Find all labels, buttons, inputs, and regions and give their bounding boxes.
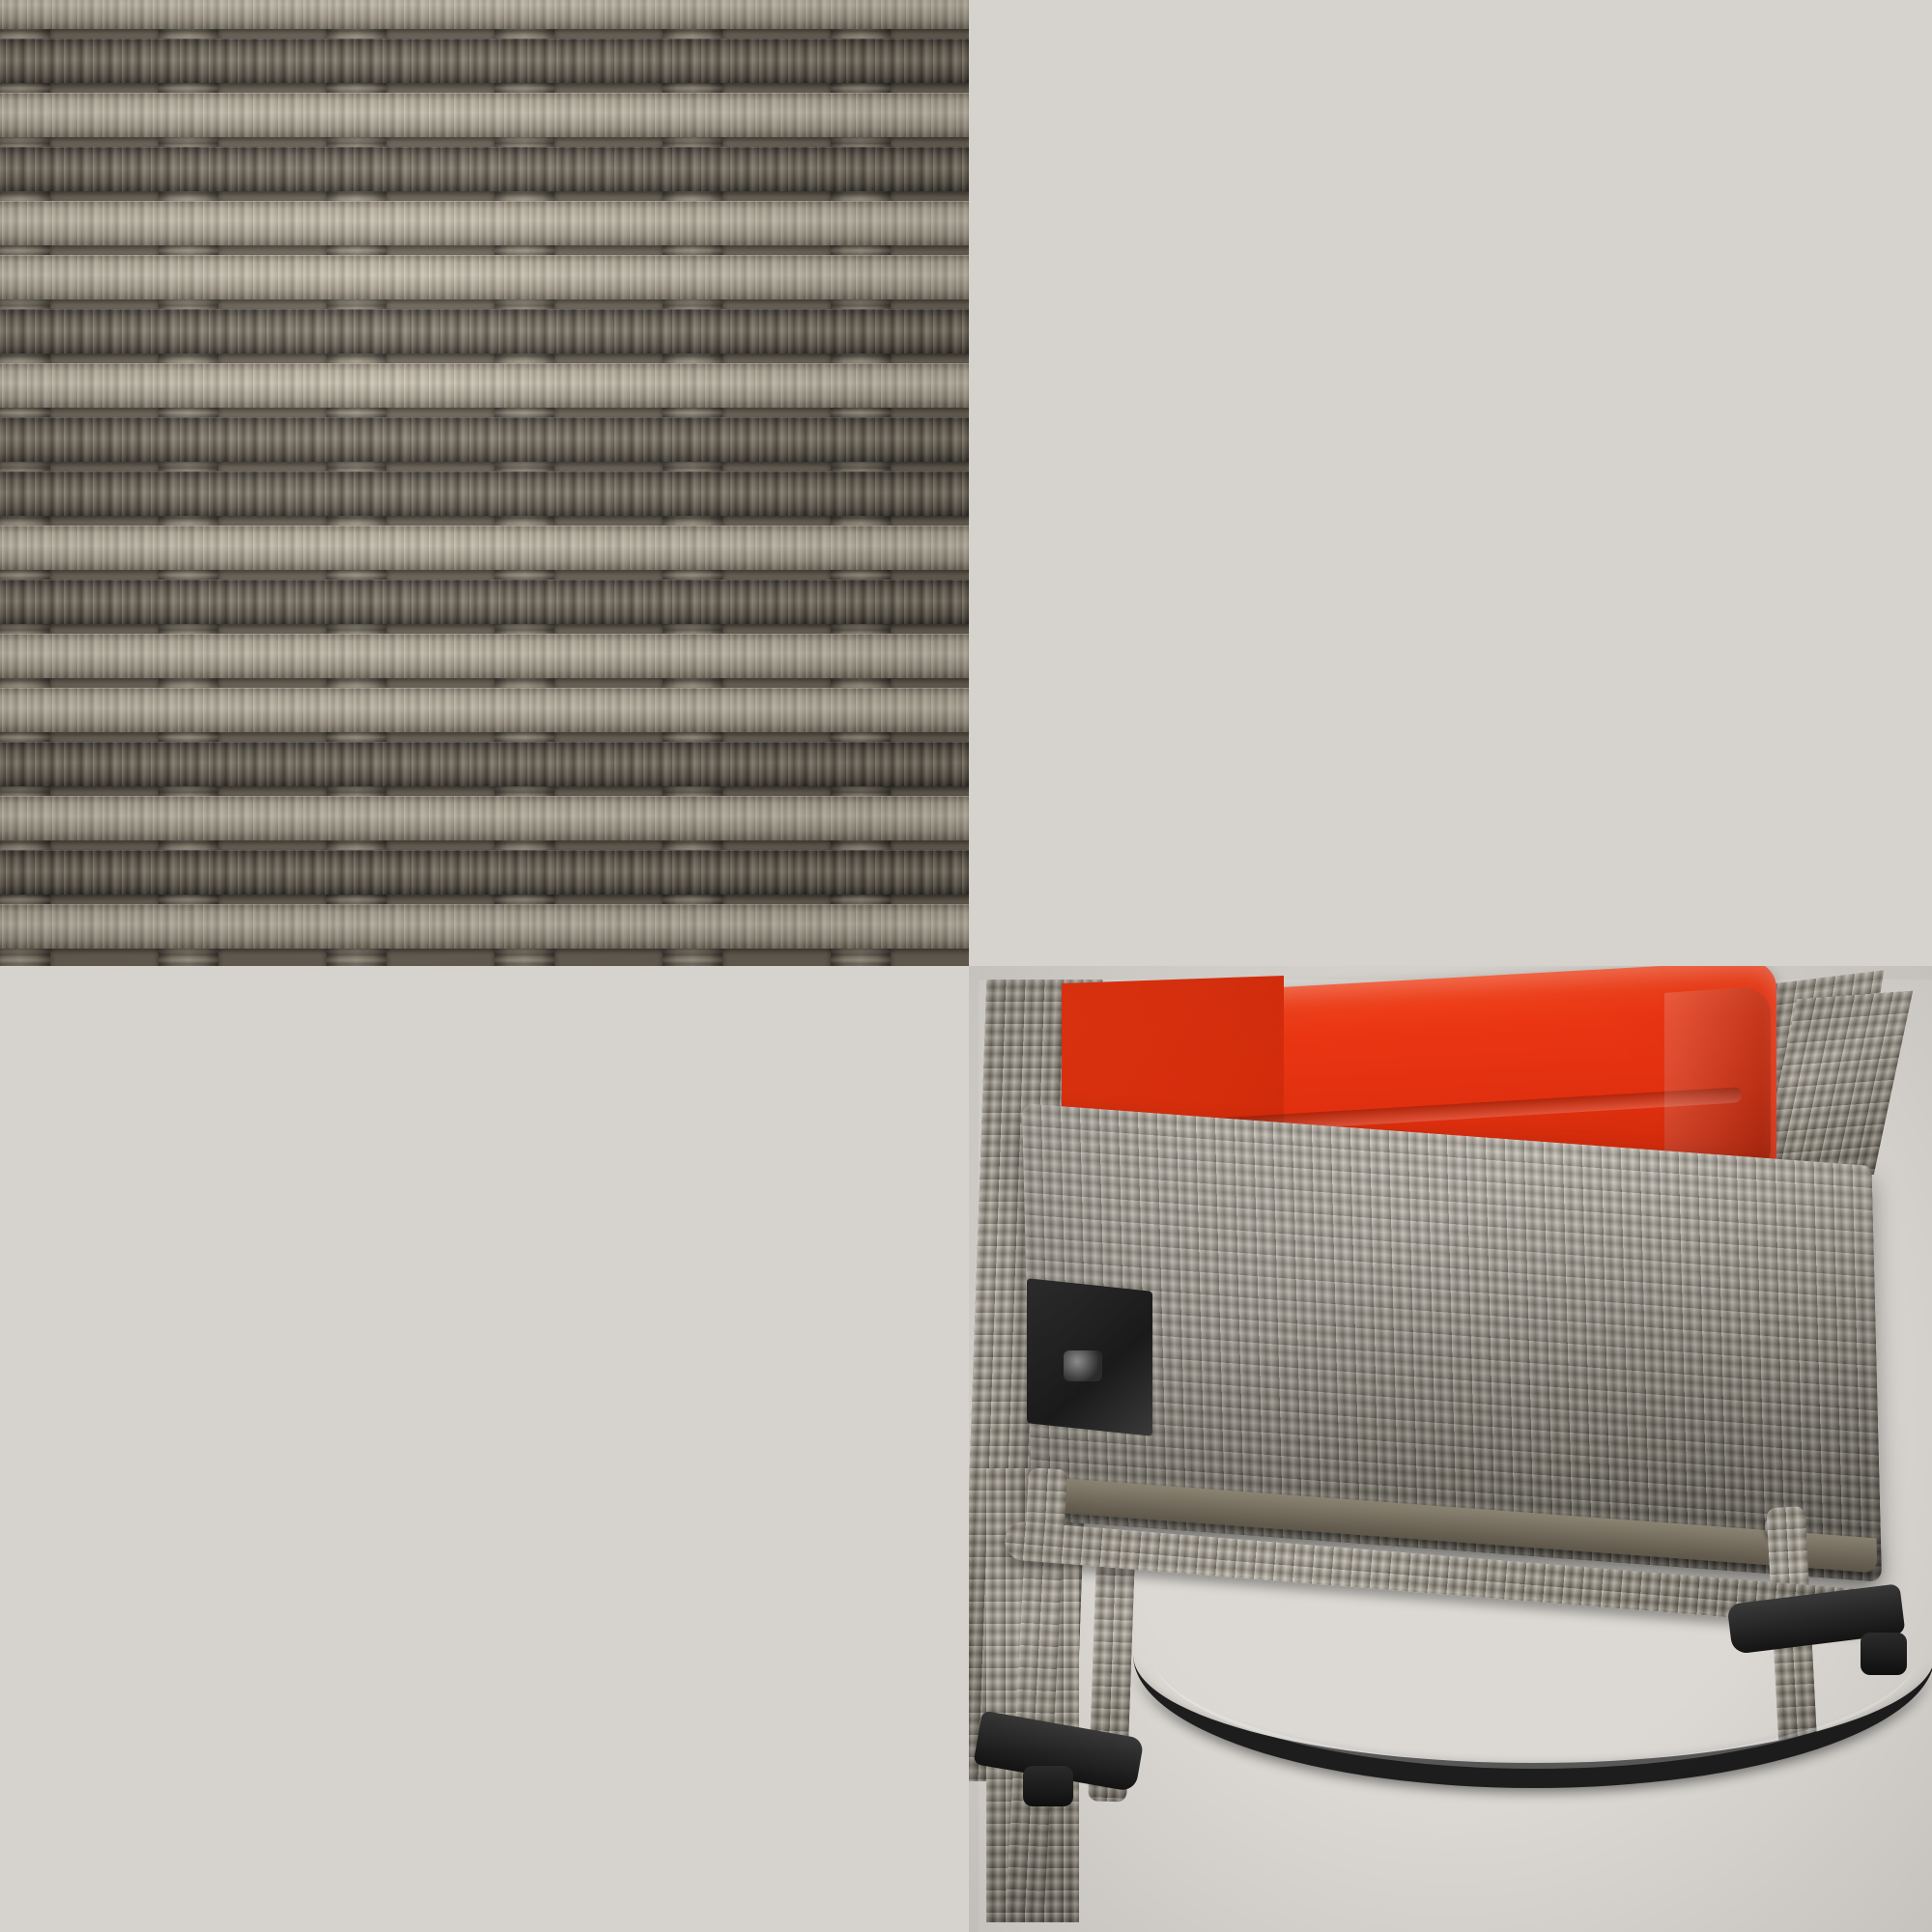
chair-footrest-photo-panel xyxy=(969,966,1932,1932)
weave-weft-strand xyxy=(0,904,969,949)
weave-weft-strand xyxy=(0,634,969,678)
rocker-foot-right-pad xyxy=(1861,1633,1907,1675)
weave-weft-strand xyxy=(0,417,969,462)
weave-weft-strand xyxy=(0,742,969,786)
stable-consturction-panel: Stable Consturction It's easy to get rel… xyxy=(0,966,969,1932)
rattan-weave-panel xyxy=(0,0,969,966)
weave-weft-strand xyxy=(0,309,969,354)
durable-rattan-material-panel: Durable Rattan Material Increased streng… xyxy=(969,0,1932,966)
rattan-weave-texture xyxy=(0,0,969,966)
rocker-rail-highlight xyxy=(1151,1531,1919,1769)
weave-weft-strand xyxy=(0,796,969,840)
weave-weft-strand xyxy=(0,39,969,83)
weave-weft-strand xyxy=(0,201,969,245)
weave-weft-strand xyxy=(0,363,969,408)
weave-weft-strand xyxy=(0,688,969,732)
infographic-canvas: Durable Rattan Material Increased streng… xyxy=(0,0,1932,1932)
weave-weft-strand xyxy=(0,526,969,570)
weave-weft-strand xyxy=(0,255,969,299)
bracket-pivot-pin xyxy=(1064,1350,1102,1381)
weave-weft-strand xyxy=(0,147,969,191)
rocker-foot-left-pad xyxy=(1023,1766,1073,1806)
weave-weft-strand xyxy=(0,580,969,624)
weave-weft-strand xyxy=(0,93,969,137)
weave-weft-strand xyxy=(0,850,969,895)
weave-weft-strand xyxy=(0,0,969,29)
rocking-chair-footrest-photo xyxy=(969,966,1932,1932)
weave-weft-strand xyxy=(0,471,969,516)
